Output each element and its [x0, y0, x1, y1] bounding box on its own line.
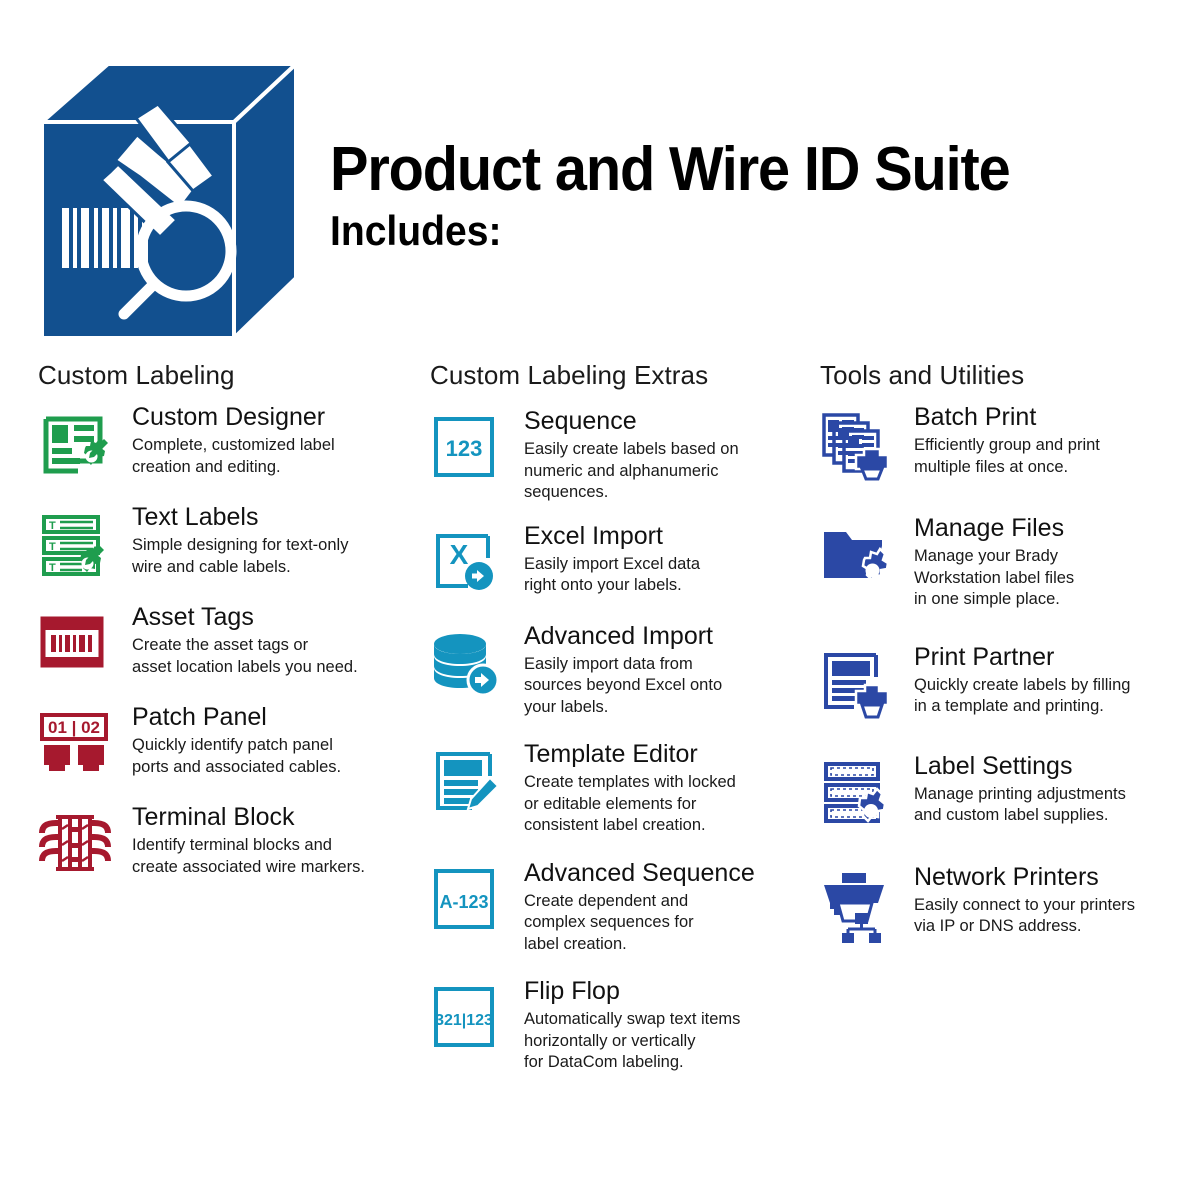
feature-advanced-sequence[interactable]: A-123 Advanced Sequence Create dependent…	[430, 859, 810, 956]
feature-patch-panel[interactable]: 01 | 02 Patch Panel Quickly identify pat…	[38, 703, 410, 778]
feature-text: Print Partner Quickly create labels by f…	[914, 643, 1180, 718]
svg-text:T: T	[49, 541, 56, 553]
feature-text: Manage Files Manage your Brady Workstati…	[914, 514, 1180, 611]
poster-page: Product and Wire ID Suite Includes: Cust…	[0, 0, 1200, 1200]
feature-name: Patch Panel	[132, 703, 410, 732]
feature-desc: Easily create labels based on numeric an…	[524, 439, 810, 504]
feature-desc: Identify terminal blocks and create asso…	[132, 835, 410, 878]
feature-sequence[interactable]: 123 Sequence Easily create labels based …	[430, 407, 810, 504]
column-tools-and-utilities: Tools and Utilities	[820, 360, 1180, 938]
feature-text: Flip Flop Automatically swap text items …	[524, 977, 810, 1074]
feature-name: Advanced Import	[524, 622, 810, 651]
advanced-sequence-icon-text: A-123	[439, 892, 488, 912]
feature-text: Template Editor Create templates with lo…	[524, 740, 810, 837]
feature-label-settings[interactable]: Label Settings Manage printing adjustmen…	[820, 752, 1180, 827]
includes-label: Includes:	[330, 206, 1010, 256]
feature-desc: Easily import Excel data right onto your…	[524, 554, 810, 597]
feature-text-labels[interactable]: T T T	[38, 503, 410, 578]
batch-print-icon	[820, 409, 894, 483]
excel-import-icon: X	[430, 528, 504, 602]
feature-desc: Efficiently group and print multiple fil…	[914, 435, 1180, 478]
feature-advanced-import[interactable]: Advanced Import Easily import data from …	[430, 622, 810, 719]
feature-text: Text Labels Simple designing for text-on…	[132, 503, 410, 578]
flip-flop-icon: 321|123	[430, 983, 504, 1057]
feature-name: Advanced Sequence	[524, 859, 810, 888]
sequence-icon-text: 123	[446, 436, 483, 461]
feature-desc: Manage printing adjustments and custom l…	[914, 784, 1180, 827]
feature-text: Excel Import Easily import Excel data ri…	[524, 522, 810, 597]
feature-manage-files[interactable]: Manage Files Manage your Brady Workstati…	[820, 514, 1180, 611]
feature-name: Network Printers	[914, 863, 1180, 892]
feature-name: Print Partner	[914, 643, 1180, 672]
column-title: Custom Labeling	[38, 360, 410, 391]
column-custom-labeling: Custom Labeling	[38, 360, 410, 878]
column-title: Custom Labeling Extras	[430, 360, 810, 391]
feature-flip-flop[interactable]: 321|123 Flip Flop Automatically swap tex…	[430, 977, 810, 1074]
custom-designer-icon	[38, 409, 112, 483]
feature-desc: Automatically swap text items horizontal…	[524, 1009, 810, 1074]
feature-desc: Quickly create labels by filling in a te…	[914, 675, 1180, 718]
feature-custom-designer[interactable]: Custom Designer Complete, customized lab…	[38, 403, 410, 478]
template-editor-icon	[430, 746, 504, 820]
patch-panel-icon-text: 01 | 02	[48, 718, 100, 737]
feature-name: Template Editor	[524, 740, 810, 769]
feature-name: Manage Files	[914, 514, 1180, 543]
feature-name: Sequence	[524, 407, 810, 436]
feature-name: Terminal Block	[132, 803, 410, 832]
feature-terminal-block[interactable]: Terminal Block Identify terminal blocks …	[38, 803, 410, 878]
feature-desc: Manage your Brady Workstation label file…	[914, 546, 1180, 611]
advanced-sequence-icon: A-123	[430, 865, 504, 939]
feature-batch-print[interactable]: Batch Print Efficiently group and print …	[820, 403, 1180, 478]
excel-import-icon-text: X	[450, 539, 469, 570]
feature-asset-tags[interactable]: Asset Tags Create the asset tags or asse…	[38, 603, 410, 678]
page-title: Product and Wire ID Suite	[330, 138, 1010, 202]
column-title: Tools and Utilities	[820, 360, 1180, 391]
flip-flop-icon-text: 321|123	[435, 1012, 493, 1029]
header: Product and Wire ID Suite Includes:	[0, 0, 1200, 360]
feature-name: Excel Import	[524, 522, 810, 551]
svg-text:T: T	[49, 520, 56, 532]
patch-panel-icon: 01 | 02	[38, 709, 112, 783]
terminal-block-icon	[38, 809, 112, 883]
label-settings-icon	[820, 758, 894, 832]
feature-text: Asset Tags Create the asset tags or asse…	[132, 603, 410, 678]
feature-desc: Create templates with locked or editable…	[524, 772, 810, 837]
feature-text: Terminal Block Identify terminal blocks …	[132, 803, 410, 878]
asset-tags-icon	[38, 609, 112, 683]
feature-desc: Easily connect to your printers via IP o…	[914, 895, 1180, 938]
feature-name: Label Settings	[914, 752, 1180, 781]
feature-excel-import[interactable]: X Excel Import Easily import Excel data …	[430, 522, 810, 597]
print-partner-icon	[820, 649, 894, 723]
feature-name: Batch Print	[914, 403, 1180, 432]
feature-print-partner[interactable]: Print Partner Quickly create labels by f…	[820, 643, 1180, 718]
advanced-import-icon	[430, 628, 504, 702]
svg-text:T: T	[49, 562, 56, 574]
feature-desc: Quickly identify patch panel ports and a…	[132, 735, 410, 778]
feature-desc: Create the asset tags or asset location …	[132, 635, 410, 678]
feature-text: Advanced Import Easily import data from …	[524, 622, 810, 719]
network-printers-icon	[820, 869, 894, 943]
feature-text: Network Printers Easily connect to your …	[914, 863, 1180, 938]
feature-text: Custom Designer Complete, customized lab…	[132, 403, 410, 478]
feature-name: Asset Tags	[132, 603, 410, 632]
feature-name: Flip Flop	[524, 977, 810, 1006]
feature-text: Advanced Sequence Create dependent and c…	[524, 859, 810, 956]
feature-text: Patch Panel Quickly identify patch panel…	[132, 703, 410, 778]
feature-name: Text Labels	[132, 503, 410, 532]
feature-desc: Complete, customized label creation and …	[132, 435, 410, 478]
text-labels-icon: T T T	[38, 509, 112, 583]
feature-desc: Simple designing for text-only wire and …	[132, 535, 410, 578]
feature-desc: Easily import data from sources beyond E…	[524, 654, 810, 719]
product-box-icon	[38, 60, 300, 340]
sequence-icon: 123	[430, 413, 504, 487]
feature-text: Label Settings Manage printing adjustmen…	[914, 752, 1180, 827]
feature-text: Sequence Easily create labels based on n…	[524, 407, 810, 504]
feature-name: Custom Designer	[132, 403, 410, 432]
column-custom-labeling-extras: Custom Labeling Extras 123 Sequence Easi…	[430, 360, 810, 1074]
title-block: Product and Wire ID Suite Includes:	[330, 138, 1061, 256]
manage-files-icon	[820, 520, 894, 594]
feature-desc: Create dependent and complex sequences f…	[524, 891, 810, 956]
feature-template-editor[interactable]: Template Editor Create templates with lo…	[430, 740, 810, 837]
feature-text: Batch Print Efficiently group and print …	[914, 403, 1180, 478]
feature-network-printers[interactable]: Network Printers Easily connect to your …	[820, 863, 1180, 938]
